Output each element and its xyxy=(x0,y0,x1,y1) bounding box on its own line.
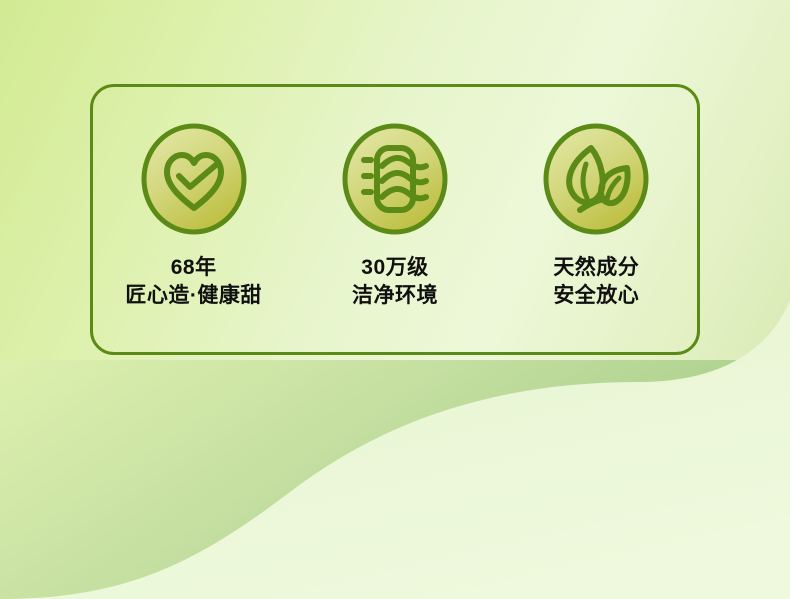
feature-caption-secondary: 安全放心 xyxy=(553,282,639,310)
heart-check-icon xyxy=(137,120,251,238)
leaves-icon xyxy=(539,120,653,238)
feature-list: 68年 匠心造·健康甜 xyxy=(93,87,697,352)
feature-item-heritage[interactable]: 68年 匠心造·健康甜 xyxy=(94,120,294,309)
promo-banner: 68年 匠心造·健康甜 xyxy=(0,0,790,599)
feature-caption-primary: 68年 xyxy=(125,254,262,282)
feature-caption-secondary: 匠心造·健康甜 xyxy=(125,282,262,310)
feature-caption: 天然成分 安全放心 xyxy=(553,254,639,309)
air-filter-icon xyxy=(338,120,452,238)
feature-caption-secondary: 洁净环境 xyxy=(352,282,438,310)
feature-caption-primary: 天然成分 xyxy=(553,254,639,282)
feature-caption: 30万级 洁净环境 xyxy=(352,254,438,309)
feature-caption-primary: 30万级 xyxy=(352,254,438,282)
feature-item-natural[interactable]: 天然成分 安全放心 xyxy=(496,120,696,309)
feature-card: 68年 匠心造·健康甜 xyxy=(90,84,700,355)
feature-caption: 68年 匠心造·健康甜 xyxy=(125,254,262,309)
feature-item-cleanroom[interactable]: 30万级 洁净环境 xyxy=(295,120,495,309)
